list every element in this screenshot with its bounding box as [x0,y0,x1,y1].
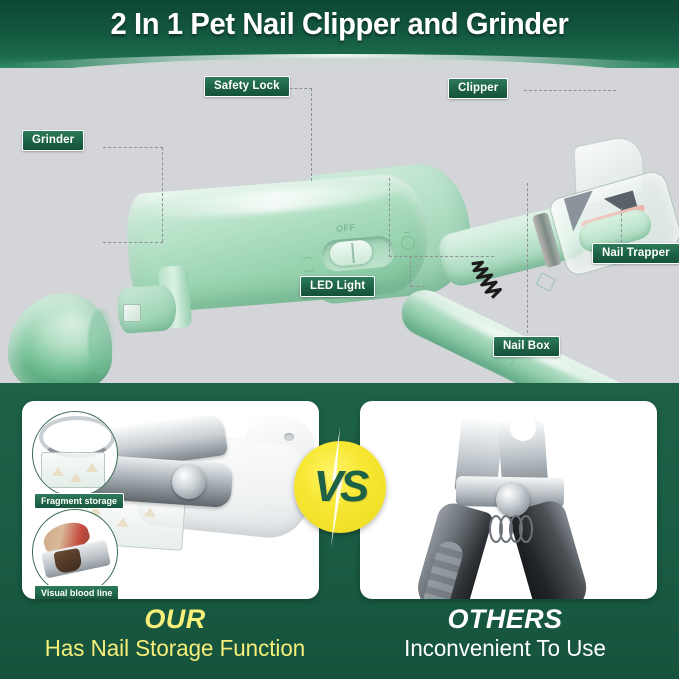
grinder-bit [123,304,141,322]
leader-led-h [411,286,425,287]
callout-nail-trapper[interactable]: Nail Trapper [592,243,679,264]
nail-chip [52,467,64,476]
other-caption-block: OTHERS Inconvenient To Use [340,605,670,662]
other-clipper-hook-cutout [510,415,536,441]
other-product-card [360,401,657,599]
callout-grinder[interactable]: Grinder [22,130,84,151]
leader-nailbox-v [527,183,528,333]
nail-chip [117,517,130,527]
leader-led-v [410,256,411,287]
magnifier-fragment-storage [32,411,118,497]
leader-clipper-h [524,90,616,91]
vs-label: VS [294,441,386,533]
magnifier-tray [41,452,105,488]
handle-emboss-2 [536,272,557,292]
callout-nail-box[interactable]: Nail Box [493,336,560,357]
switch-off-label: OFF [336,222,356,234]
callout-clipper[interactable]: Clipper [448,78,508,99]
our-caption-title: OUR [10,605,340,634]
leader-safety-v [311,88,312,181]
leader-grinder-v [162,147,163,242]
nail-chip [143,507,156,517]
nail-chip [70,473,82,482]
our-caption-subtitle: Has Nail Storage Function [15,635,335,662]
other-spring-icon [486,513,540,545]
product-infographic: 2 In 1 Pet Nail Clipper and Grinder OFF [0,0,679,679]
header-banner: 2 In 1 Pet Nail Clipper and Grinder [0,0,679,72]
our-caption-block: OUR Has Nail Storage Function [10,605,340,662]
product-diagram: OFF [0,68,679,383]
callout-safety-lock[interactable]: Safety Lock [204,76,290,97]
grinder-cap-face [88,309,114,375]
grinder-cap-illustration [8,293,112,383]
leader-grinder-h2 [103,242,163,243]
our-product-card: Fragment storage Visual blood line [22,401,319,599]
comparison-section: Fragment storage Visual blood line [0,383,679,679]
other-caption-subtitle: Inconvenient To Use [345,635,665,662]
callout-led-light[interactable]: LED Light [300,276,375,297]
nail-chip [86,463,98,472]
leader-trapper-v [621,208,622,248]
magnifier-visual-blood-line [32,509,118,595]
page-title: 2 In 1 Pet Nail Clipper and Grinder [20,6,658,42]
leader-nailbox-box [389,178,494,257]
our-clipper-rivet [172,465,206,499]
other-clipper-rivet [496,483,530,517]
other-caption-title: OTHERS [340,605,670,634]
leader-grinder-h [103,147,163,148]
mini-label-fragment-storage[interactable]: Fragment storage [34,493,124,509]
mini-label-visual-blood-line[interactable]: Visual blood line [34,585,119,599]
our-clipper-cap-hole [284,433,294,441]
